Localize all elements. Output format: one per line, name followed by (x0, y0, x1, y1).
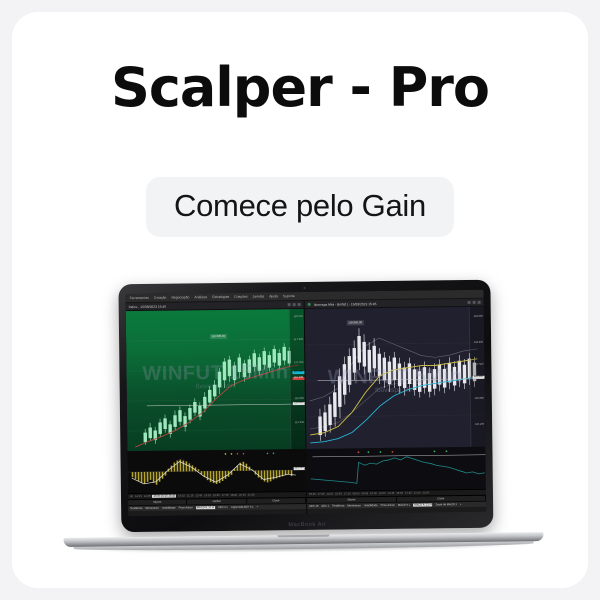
time-tick-l5: 11:15 (187, 494, 194, 497)
time-tick-l11: 20:15 (239, 494, 246, 497)
menu-item-janelas[interactable]: Janelas (253, 294, 265, 298)
tab-macd9-right[interactable]: MACD 9 L (398, 503, 410, 506)
tab-price-action-right[interactable]: Price Action (381, 503, 395, 506)
menu-item-analises[interactable]: Análises (194, 295, 207, 299)
status-dot-icon (308, 303, 311, 306)
deck-notch (277, 535, 329, 538)
last-price-tag-left: 116.385 (293, 371, 304, 375)
minimize-icon[interactable] (288, 303, 291, 306)
page-title: Scalper - Pro (12, 56, 588, 119)
price-tick-left-1: 117.900 (294, 338, 303, 341)
maximize-icon-right[interactable] (473, 301, 476, 304)
tab-add-left[interactable]: + (257, 505, 259, 508)
panel-left-chart[interactable]: 116.585,00 WINFUT 15Min Ibovespa Mini 11… (126, 309, 306, 451)
adx-line-right (306, 447, 486, 491)
last-price-tag-right: 116.385 (473, 376, 484, 380)
panel-right-indicator[interactable] (306, 447, 485, 491)
time-tick-l0: 45 (130, 495, 133, 498)
tab-group-clone-left[interactable]: Clone (247, 498, 306, 503)
price-tick-right-1: 118.200 (474, 341, 483, 344)
time-tick-r12: 21:00 (414, 492, 421, 495)
tab-cigarrada-left[interactable]: Cigarrada ADX 6 L (231, 505, 253, 508)
tab-volatilidade-right[interactable]: Volatilidade (364, 504, 378, 507)
tab-zeyte-right[interactable]: Zeyte de MACD 1 (436, 503, 457, 506)
device-bezel-label: MacBook Air (121, 520, 493, 531)
time-tick-r9: 13:15 (388, 492, 395, 495)
panel-left-window-controls[interactable] (288, 303, 301, 306)
panel-left-title: Índice - 15/09/2023 15:45 (129, 304, 166, 308)
panel-left-indicator[interactable]: 116.385 (127, 449, 305, 493)
time-tick-r4: 17:15 (344, 492, 351, 495)
tab-group-skynet-left[interactable]: Skynet (128, 499, 187, 504)
minimize-icon-right[interactable] (468, 301, 471, 304)
price-tick-left-3: 116.600 (295, 397, 304, 400)
tab-tendencia-left[interactable]: Tendência (130, 506, 142, 509)
chart-price-label-left: 116.585,00 (210, 334, 227, 339)
level-price-tag-left: 115.430 (293, 402, 304, 406)
macd-histogram-left (127, 449, 307, 493)
alert-price-tag-left: 116.120 (293, 377, 304, 381)
tab-macd821-right[interactable]: MACD 8_21 H (413, 503, 432, 506)
tab-momentum-right[interactable]: Momentum (347, 504, 360, 507)
menu-item-criacoes[interactable]: Criações (234, 295, 247, 299)
menu-item-cotacao[interactable]: Cotação (154, 296, 167, 300)
price-tick-right-4: 116.100 (475, 423, 484, 426)
laptop-mockup: Ferramentas Cotação Negociação Análises … (60, 267, 544, 563)
laptop-screen: Ferramentas Cotação Negociação Análises … (126, 290, 487, 516)
tab-volatilidade-left[interactable]: Volatilidade (162, 506, 176, 509)
time-tick-r2: 14:15 (326, 493, 333, 496)
time-tick-l7: 14:15 (204, 494, 211, 497)
time-tick-l2: 14:45 (144, 495, 151, 498)
panel-right-title: Ibovespa Mini - Bmf&f | - 15/09/2023 15:… (314, 302, 377, 307)
time-tick-l12: 21:45 (248, 494, 255, 497)
promo-card: Scalper - Pro Comece pelo Gain Ferrament… (12, 12, 588, 588)
panel-winfut-5min: Ibovespa Mini - Bmf&f | - 15/09/2023 15:… (305, 299, 487, 514)
time-tick-l4: 16:15 (178, 494, 185, 497)
menu-item-ferramentas[interactable]: Ferramentas (130, 296, 149, 300)
time-tick-l8: 15:45 (213, 494, 220, 497)
camera-icon (303, 286, 306, 289)
adx-line (311, 456, 485, 484)
time-tick-r10: 15:45 (396, 492, 403, 495)
menu-item-estrategias[interactable]: Estratégias (212, 295, 229, 299)
tab-adx-left[interactable]: ADX 6 L (218, 505, 228, 508)
tab-price-action-left[interactable]: Price Action (179, 506, 193, 509)
tab-adx15-right[interactable]: ADX 15 (309, 504, 318, 507)
maximize-icon[interactable] (293, 303, 296, 306)
tab-momentum-left[interactable]: Momentum (145, 506, 158, 509)
price-tick-left-4: 115.950 (295, 421, 304, 424)
price-tick-right-3: 116.800 (475, 397, 484, 400)
panel-right-chart[interactable]: 118.850,00 WINFUT 5Min Ibovespa Mini 118… (305, 307, 486, 449)
time-tick-r13: 22:00 (422, 491, 429, 494)
candlestick-chart-right (305, 307, 486, 449)
subtitle-row: Comece pelo Gain (12, 177, 588, 237)
time-tick-r3: 15:45 (335, 493, 342, 496)
candlestick-chart-left (126, 309, 306, 451)
subtitle-pill: Comece pelo Gain (146, 177, 454, 237)
support-level-line (147, 404, 297, 406)
time-tick-r0: 05:45 (309, 493, 316, 496)
tab-group-global-left[interactable]: Glóbal (187, 499, 246, 504)
time-tick-l9: 17:15 (222, 494, 229, 497)
time-tick-r7: 10:30 (370, 492, 377, 495)
chart-panels: Índice - 15/09/2023 15:45 (126, 299, 487, 516)
time-tick-l1: 14:15 (135, 495, 142, 498)
menu-item-ajuda[interactable]: Ajuda (269, 294, 278, 298)
laptop-lid: Ferramentas Cotação Negociação Análises … (118, 280, 493, 533)
tab-macd-left[interactable]: MACD 8_21 H (196, 506, 215, 509)
panel-winfut-15min: Índice - 15/09/2023 15:45 (126, 301, 308, 516)
chart-price-label-right: 118.850,00 (347, 320, 364, 325)
time-tick-l10: 18:45 (230, 494, 237, 497)
time-tick-r6: 09:45 (361, 492, 368, 495)
time-tick-r1: 07:45 (318, 493, 325, 496)
price-axis-right[interactable]: 118.900 118.200 117.500 116.800 116.100 … (469, 307, 486, 447)
tab-tendencia-right[interactable]: Tendência (332, 504, 344, 507)
time-tick-selected-left: 15:00 15:15 15:45 (152, 495, 176, 498)
moving-average-line (134, 365, 299, 447)
time-tick-r8: 12:00 (379, 492, 386, 495)
close-icon[interactable] (298, 303, 301, 306)
price-tick-left-2: 117.250 (294, 361, 303, 364)
menu-item-suporte[interactable]: Suporte (283, 294, 295, 298)
menu-item-negociacao[interactable]: Negociação (171, 295, 189, 299)
price-axis-left[interactable]: 118.550 117.900 117.250 116.600 115.950 … (289, 309, 306, 449)
time-tick-r11: 17:45 (405, 492, 412, 495)
panel-right-window-controls[interactable] (468, 301, 481, 304)
tab-add-right[interactable]: + (460, 503, 462, 506)
indicator-value-tag-left: 116.385 (293, 467, 304, 471)
tab-adx1-right[interactable]: ADX 1 (321, 504, 329, 507)
connection-indicator-icon (480, 514, 483, 516)
price-tick-right-0: 118.900 (474, 315, 483, 318)
price-tick-right-2: 117.500 (474, 363, 483, 366)
close-icon-right[interactable] (478, 301, 481, 304)
time-tick-r5: 08:00 (353, 492, 360, 495)
time-tick-l6: 12:45 (195, 494, 202, 497)
price-tick-left-0: 118.550 (294, 315, 303, 318)
